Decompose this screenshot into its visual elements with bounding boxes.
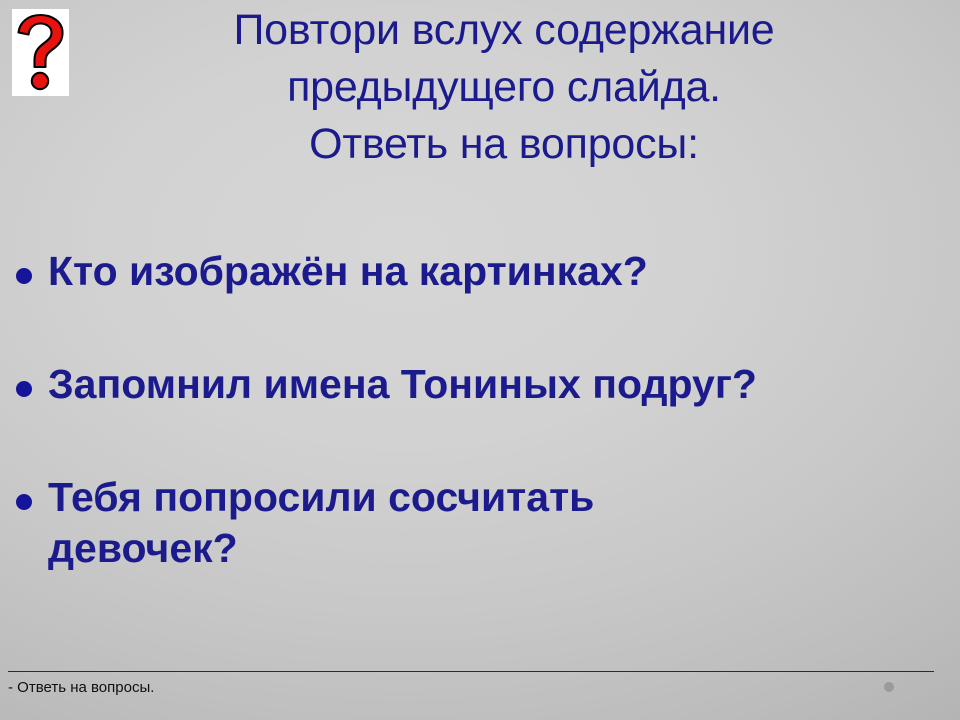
footer-dot-icon [884, 682, 894, 692]
bullet-marker-icon [0, 246, 48, 284]
question-mark-image [12, 9, 69, 96]
slide-title: Повтори вслух содержание предыдущего сла… [74, 2, 934, 173]
title-line-1: Повтори вслух содержание [74, 2, 934, 59]
footer-note: - Ответь на вопросы. [8, 678, 154, 698]
title-line-2: предыдущего слайда. [74, 59, 934, 116]
list-item-label: Тебя попросили сосчитать девочек? [48, 472, 728, 574]
title-line-3: Ответь на вопросы: [74, 116, 934, 173]
list-item: Кто изображён на картинках? [0, 246, 950, 297]
bullet-marker-icon [0, 359, 48, 397]
question-list: Кто изображён на картинках? Запомнил име… [0, 246, 950, 636]
slide-canvas: Повтори вслух содержание предыдущего сла… [0, 0, 960, 720]
list-item-label: Кто изображён на картинках? [48, 246, 950, 297]
list-item: Тебя попросили сосчитать девочек? [0, 472, 950, 574]
footer-divider [8, 671, 934, 672]
bullet-marker-icon [0, 472, 48, 510]
list-item: Запомнил имена Тониных подруг? [0, 359, 950, 410]
question-mark-icon [12, 9, 69, 96]
list-item-label: Запомнил имена Тониных подруг? [48, 359, 950, 410]
